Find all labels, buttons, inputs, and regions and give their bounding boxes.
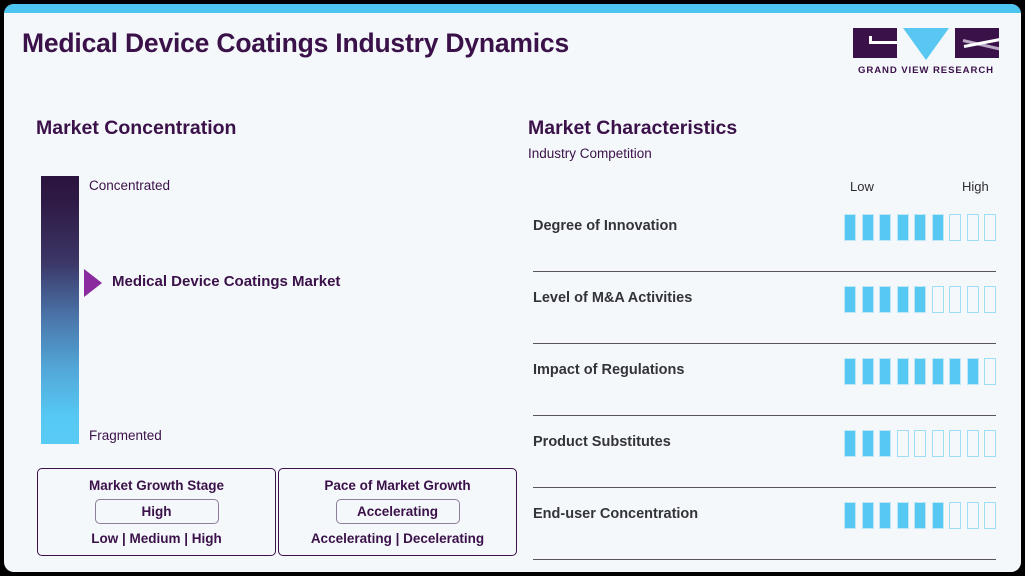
- brand-logo: GRAND VIEW RESEARCH: [853, 28, 999, 76]
- rating-bar-empty: [984, 502, 996, 529]
- market-growth-stage-options: Low | Medium | High: [38, 531, 275, 546]
- rating-bar-empty: [984, 430, 996, 457]
- market-concentration-heading: Market Concentration: [36, 117, 236, 140]
- characteristic-row: Product Substitutes: [533, 416, 996, 488]
- market-growth-stage-value: High: [95, 499, 219, 524]
- rating-bar-filled: [949, 358, 961, 385]
- logo-wordmark: GRAND VIEW RESEARCH: [853, 65, 999, 76]
- characteristic-rating-bars: [844, 358, 996, 385]
- rating-bar-filled: [914, 502, 926, 529]
- rating-bar-filled: [932, 358, 944, 385]
- rating-bar-filled: [967, 358, 979, 385]
- characteristic-rating-bars: [844, 214, 996, 241]
- page-title: Medical Device Coatings Industry Dynamic…: [22, 28, 569, 59]
- pace-of-market-growth-value: Accelerating: [336, 499, 460, 524]
- rating-bar-empty: [967, 214, 979, 241]
- characteristic-label: Product Substitutes: [533, 434, 671, 450]
- rating-bar-filled: [932, 214, 944, 241]
- characteristic-row: Impact of Regulations: [533, 344, 996, 416]
- market-characteristics-subheading: Industry Competition: [528, 146, 652, 161]
- row-divider: [533, 559, 996, 560]
- rating-bar-filled: [862, 358, 874, 385]
- rating-bar-empty: [932, 286, 944, 313]
- rating-bar-filled: [879, 214, 891, 241]
- logo-v-triangle-icon: [903, 28, 949, 60]
- rating-bar-filled: [914, 286, 926, 313]
- pace-of-market-growth-box: Pace of Market Growth Accelerating Accel…: [278, 468, 517, 556]
- rating-bar-empty: [949, 214, 961, 241]
- characteristic-label: Impact of Regulations: [533, 362, 684, 378]
- scale-header-low: Low: [850, 179, 874, 194]
- characteristic-label: Level of M&A Activities: [533, 290, 692, 306]
- scale-header-high: High: [962, 179, 989, 194]
- rating-bar-empty: [967, 430, 979, 457]
- rating-bar-filled: [862, 430, 874, 457]
- rating-bar-empty: [984, 286, 996, 313]
- characteristic-rating-bars: [844, 502, 996, 529]
- rating-bar-filled: [844, 430, 856, 457]
- pace-of-market-growth-heading: Pace of Market Growth: [279, 478, 516, 493]
- rating-bar-empty: [897, 430, 909, 457]
- scale-label-fragmented: Fragmented: [89, 428, 162, 443]
- logo-g-icon: [853, 28, 897, 58]
- rating-bar-empty: [984, 214, 996, 241]
- rating-bar-empty: [967, 502, 979, 529]
- rating-bar-filled: [897, 286, 909, 313]
- rating-bar-empty: [949, 430, 961, 457]
- rating-bar-empty: [984, 358, 996, 385]
- rating-bar-empty: [932, 430, 944, 457]
- concentration-gradient-scale: [41, 176, 79, 444]
- rating-bar-empty: [914, 430, 926, 457]
- pace-of-market-growth-options: Accelerating | Decelerating: [279, 531, 516, 546]
- logo-marks: [853, 28, 999, 60]
- rating-bar-filled: [897, 358, 909, 385]
- rating-bar-filled: [879, 430, 891, 457]
- rating-bar-filled: [879, 286, 891, 313]
- characteristic-rating-bars: [844, 430, 996, 457]
- scale-label-concentrated: Concentrated: [89, 178, 170, 193]
- rating-bar-filled: [862, 286, 874, 313]
- characteristic-row: End-user Concentration: [533, 488, 996, 560]
- market-growth-stage-heading: Market Growth Stage: [38, 478, 275, 493]
- rating-bar-filled: [844, 214, 856, 241]
- characteristic-row: Degree of Innovation: [533, 200, 996, 272]
- rating-bar-empty: [967, 286, 979, 313]
- rating-bar-filled: [932, 502, 944, 529]
- market-position-label: Medical Device Coatings Market: [112, 273, 340, 290]
- logo-r-icon: [955, 28, 999, 58]
- rating-bar-filled: [897, 502, 909, 529]
- rating-bar-filled: [914, 358, 926, 385]
- characteristic-label: Degree of Innovation: [533, 218, 677, 234]
- market-characteristics-heading: Market Characteristics: [528, 117, 737, 140]
- market-position-arrow-icon: [84, 269, 102, 297]
- rating-bar-filled: [862, 214, 874, 241]
- rating-bar-filled: [879, 502, 891, 529]
- rating-bar-filled: [914, 214, 926, 241]
- rating-bar-empty: [949, 286, 961, 313]
- slide-canvas: Medical Device Coatings Industry Dynamic…: [4, 4, 1021, 572]
- rating-bar-filled: [844, 502, 856, 529]
- characteristic-label: End-user Concentration: [533, 506, 698, 522]
- rating-bar-filled: [897, 214, 909, 241]
- rating-bar-empty: [949, 502, 961, 529]
- characteristic-row: Level of M&A Activities: [533, 272, 996, 344]
- market-growth-stage-box: Market Growth Stage High Low | Medium | …: [37, 468, 276, 556]
- rating-bar-filled: [879, 358, 891, 385]
- top-accent-bar: [4, 4, 1021, 13]
- rating-bar-filled: [844, 286, 856, 313]
- rating-bar-filled: [862, 502, 874, 529]
- characteristic-rating-bars: [844, 286, 996, 313]
- rating-bar-filled: [844, 358, 856, 385]
